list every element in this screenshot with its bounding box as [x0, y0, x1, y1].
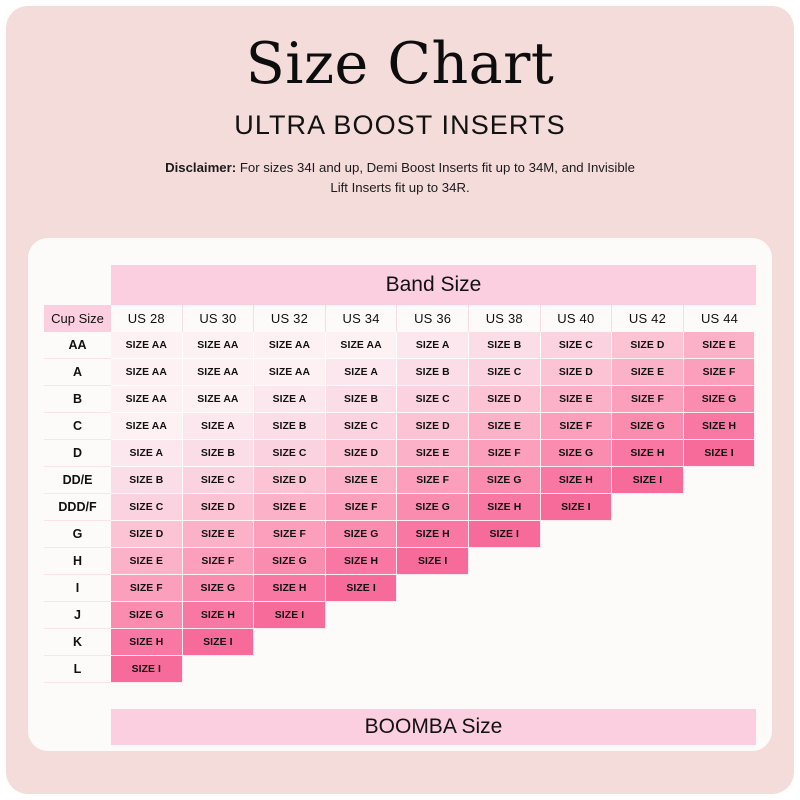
- size-cell: SIZE AA: [183, 359, 255, 386]
- empty-cell: [684, 521, 756, 548]
- size-cell: SIZE H: [397, 521, 469, 548]
- size-cell: SIZE A: [326, 359, 398, 386]
- size-cell: SIZE I: [183, 629, 255, 656]
- size-cell: SIZE E: [326, 467, 398, 494]
- size-cell: SIZE F: [684, 359, 756, 386]
- empty-cell: [254, 656, 326, 683]
- table-row: LSIZE I: [44, 656, 756, 683]
- size-cell: SIZE C: [397, 386, 469, 413]
- size-cell: SIZE D: [254, 467, 326, 494]
- size-cell: SIZE B: [183, 440, 255, 467]
- empty-cell: [612, 494, 684, 521]
- empty-cell: [541, 602, 613, 629]
- empty-cell: [469, 548, 541, 575]
- size-cell: SIZE I: [469, 521, 541, 548]
- size-cell: SIZE D: [612, 332, 684, 359]
- size-cell: SIZE E: [469, 413, 541, 440]
- cup-size-label: B: [44, 386, 111, 413]
- size-cell: SIZE F: [111, 575, 183, 602]
- size-cell: SIZE C: [183, 467, 255, 494]
- page-header: Size Chart ULTRA BOOST INSERTS Disclaime…: [6, 6, 794, 198]
- cup-size-label: H: [44, 548, 111, 575]
- size-cell: SIZE AA: [183, 386, 255, 413]
- size-cell: SIZE A: [397, 332, 469, 359]
- size-cell: SIZE H: [541, 467, 613, 494]
- table-row: HSIZE ESIZE FSIZE GSIZE HSIZE I: [44, 548, 756, 575]
- band-size-column-header: US 44: [684, 305, 756, 332]
- empty-cell: [397, 629, 469, 656]
- table-row: BSIZE AASIZE AASIZE ASIZE BSIZE CSIZE DS…: [44, 386, 756, 413]
- empty-cell: [397, 602, 469, 629]
- empty-cell: [684, 548, 756, 575]
- size-cell: SIZE H: [612, 440, 684, 467]
- cup-size-label: K: [44, 629, 111, 656]
- size-cell: SIZE B: [397, 359, 469, 386]
- page-subtitle: ULTRA BOOST INSERTS: [6, 110, 794, 141]
- empty-cell: [254, 629, 326, 656]
- table-row: DSIZE ASIZE BSIZE CSIZE DSIZE ESIZE FSIZ…: [44, 440, 756, 467]
- size-cell: SIZE G: [397, 494, 469, 521]
- cup-size-label: L: [44, 656, 111, 683]
- band-size-column-header: US 42: [612, 305, 684, 332]
- size-cell: SIZE H: [469, 494, 541, 521]
- cup-size-label: G: [44, 521, 111, 548]
- size-cell: SIZE F: [183, 548, 255, 575]
- cup-size-label: DDD/F: [44, 494, 111, 521]
- size-cell: SIZE H: [111, 629, 183, 656]
- size-cell: SIZE I: [541, 494, 613, 521]
- size-cell: SIZE G: [254, 548, 326, 575]
- empty-cell: [612, 521, 684, 548]
- empty-cell: [612, 629, 684, 656]
- size-cell: SIZE AA: [111, 386, 183, 413]
- band-size-column-header: US 40: [541, 305, 613, 332]
- table-row: ISIZE FSIZE GSIZE HSIZE I: [44, 575, 756, 602]
- size-cell: SIZE E: [397, 440, 469, 467]
- size-cell: SIZE B: [254, 413, 326, 440]
- size-cell: SIZE I: [397, 548, 469, 575]
- band-size-column-header: US 36: [397, 305, 469, 332]
- disclaimer-label: Disclaimer:: [165, 160, 236, 175]
- size-cell: SIZE D: [541, 359, 613, 386]
- size-cell: SIZE G: [326, 521, 398, 548]
- size-cell: SIZE AA: [111, 359, 183, 386]
- table-row: DD/ESIZE BSIZE CSIZE DSIZE ESIZE FSIZE G…: [44, 467, 756, 494]
- size-cell: SIZE C: [541, 332, 613, 359]
- table-row: AASIZE AASIZE AASIZE AASIZE AASIZE ASIZE…: [44, 332, 756, 359]
- table-row: DDD/FSIZE CSIZE DSIZE ESIZE FSIZE GSIZE …: [44, 494, 756, 521]
- size-cell: SIZE A: [183, 413, 255, 440]
- cup-size-label: AA: [44, 332, 111, 359]
- size-cell: SIZE H: [684, 413, 756, 440]
- size-cell: SIZE B: [469, 332, 541, 359]
- size-cell: SIZE C: [254, 440, 326, 467]
- size-cell: SIZE B: [111, 467, 183, 494]
- table-row: KSIZE HSIZE I: [44, 629, 756, 656]
- cup-size-label: C: [44, 413, 111, 440]
- size-cell: SIZE F: [469, 440, 541, 467]
- band-size-column-header: US 28: [111, 305, 183, 332]
- empty-cell: [684, 575, 756, 602]
- size-cell: SIZE H: [254, 575, 326, 602]
- empty-cell: [541, 629, 613, 656]
- size-cell: SIZE G: [684, 386, 756, 413]
- empty-cell: [397, 656, 469, 683]
- empty-cell: [397, 575, 469, 602]
- cup-size-label: DD/E: [44, 467, 111, 494]
- size-cell: SIZE AA: [183, 332, 255, 359]
- size-cell: SIZE H: [326, 548, 398, 575]
- size-cell: SIZE AA: [254, 359, 326, 386]
- pink-panel: Size Chart ULTRA BOOST INSERTS Disclaime…: [6, 6, 794, 794]
- size-cell: SIZE AA: [111, 332, 183, 359]
- band-size-column-header: US 34: [326, 305, 398, 332]
- empty-cell: [684, 467, 756, 494]
- size-cell: SIZE D: [326, 440, 398, 467]
- cup-size-label: A: [44, 359, 111, 386]
- empty-cell: [469, 629, 541, 656]
- size-cell: SIZE AA: [111, 413, 183, 440]
- size-cell: SIZE B: [326, 386, 398, 413]
- empty-cell: [326, 602, 398, 629]
- size-cell: SIZE I: [111, 656, 183, 683]
- size-table: Cup SizeUS 28US 30US 32US 34US 36US 38US…: [44, 305, 756, 683]
- disclaimer-text: For sizes 34I and up, Demi Boost Inserts…: [236, 160, 635, 195]
- table-row: ASIZE AASIZE AASIZE AASIZE ASIZE BSIZE C…: [44, 359, 756, 386]
- size-cell: SIZE G: [469, 467, 541, 494]
- table-row: JSIZE GSIZE HSIZE I: [44, 602, 756, 629]
- size-cell: SIZE G: [111, 602, 183, 629]
- size-table-card: Band Size Cup SizeUS 28US 30US 32US 34US…: [28, 238, 772, 751]
- size-cell: SIZE C: [326, 413, 398, 440]
- band-size-header: Band Size: [111, 265, 756, 305]
- size-cell: SIZE F: [326, 494, 398, 521]
- empty-cell: [612, 548, 684, 575]
- size-cell: SIZE E: [254, 494, 326, 521]
- band-size-column-header: US 30: [183, 305, 255, 332]
- size-cell: SIZE E: [684, 332, 756, 359]
- size-cell: SIZE AA: [326, 332, 398, 359]
- size-cell: SIZE E: [111, 548, 183, 575]
- size-cell: SIZE F: [397, 467, 469, 494]
- size-cell: SIZE F: [541, 413, 613, 440]
- cup-size-header: Cup Size: [44, 305, 111, 332]
- size-chart-page: Size Chart ULTRA BOOST INSERTS Disclaime…: [0, 0, 800, 800]
- size-cell: SIZE F: [612, 386, 684, 413]
- size-cell: SIZE G: [183, 575, 255, 602]
- empty-cell: [612, 575, 684, 602]
- empty-cell: [541, 656, 613, 683]
- size-cell: SIZE I: [684, 440, 756, 467]
- table-row: CSIZE AASIZE ASIZE BSIZE CSIZE DSIZE ESI…: [44, 413, 756, 440]
- empty-cell: [684, 656, 756, 683]
- size-cell: SIZE C: [111, 494, 183, 521]
- size-cell: SIZE I: [254, 602, 326, 629]
- size-cell: SIZE D: [183, 494, 255, 521]
- size-cell: SIZE A: [111, 440, 183, 467]
- empty-cell: [684, 629, 756, 656]
- band-size-column-header: US 38: [469, 305, 541, 332]
- empty-cell: [183, 656, 255, 683]
- band-size-column-header: US 32: [254, 305, 326, 332]
- size-cell: SIZE I: [612, 467, 684, 494]
- size-cell: SIZE C: [469, 359, 541, 386]
- size-cell: SIZE G: [541, 440, 613, 467]
- page-title: Size Chart: [6, 36, 794, 93]
- size-cell: SIZE I: [326, 575, 398, 602]
- empty-cell: [541, 548, 613, 575]
- table-header-row: Cup SizeUS 28US 30US 32US 34US 36US 38US…: [44, 305, 756, 332]
- size-cell: SIZE H: [183, 602, 255, 629]
- empty-cell: [612, 656, 684, 683]
- empty-cell: [326, 629, 398, 656]
- size-cell: SIZE E: [183, 521, 255, 548]
- size-cell: SIZE D: [469, 386, 541, 413]
- size-cell: SIZE G: [612, 413, 684, 440]
- cup-size-label: J: [44, 602, 111, 629]
- empty-cell: [469, 602, 541, 629]
- size-cell: SIZE AA: [254, 332, 326, 359]
- size-cell: SIZE E: [541, 386, 613, 413]
- table-row: GSIZE DSIZE ESIZE FSIZE GSIZE HSIZE I: [44, 521, 756, 548]
- cup-size-label: D: [44, 440, 111, 467]
- empty-cell: [326, 656, 398, 683]
- size-cell: SIZE E: [612, 359, 684, 386]
- size-cell: SIZE A: [254, 386, 326, 413]
- cup-size-label: I: [44, 575, 111, 602]
- empty-cell: [541, 575, 613, 602]
- size-cell: SIZE D: [111, 521, 183, 548]
- empty-cell: [684, 494, 756, 521]
- size-cell: SIZE D: [397, 413, 469, 440]
- boomba-size-footer: BOOMBA Size: [111, 709, 756, 745]
- size-cell: SIZE F: [254, 521, 326, 548]
- empty-cell: [541, 521, 613, 548]
- empty-cell: [684, 602, 756, 629]
- empty-cell: [469, 656, 541, 683]
- empty-cell: [612, 602, 684, 629]
- disclaimer: Disclaimer: For sizes 34I and up, Demi B…: [6, 158, 794, 198]
- empty-cell: [469, 575, 541, 602]
